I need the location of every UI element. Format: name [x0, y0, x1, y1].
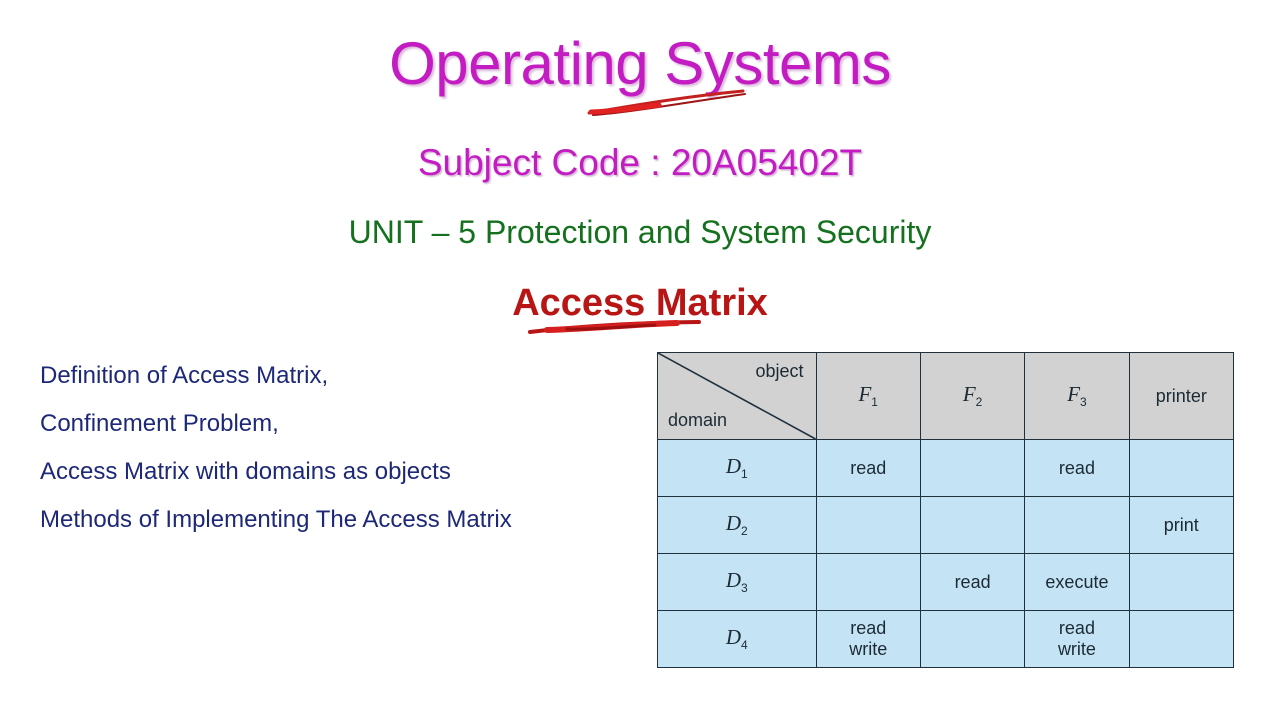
matrix-cell-d2-f2: [920, 497, 1024, 554]
page-title: Operating Systems: [0, 32, 1280, 95]
row-header-d3: D3: [658, 554, 817, 611]
table-row: D4 read write read write: [658, 611, 1234, 668]
table-row: D2 print: [658, 497, 1234, 554]
row-header-d1: D1: [658, 440, 817, 497]
matrix-cell-d2-f3: [1025, 497, 1129, 554]
matrix-cell-d3-f3: execute: [1025, 554, 1129, 611]
list-item: Access Matrix with domains as objects: [40, 448, 640, 496]
table-row: D3 read execute: [658, 554, 1234, 611]
matrix-cell-d1-f2: [920, 440, 1024, 497]
unit-heading: UNIT – 5 Protection and System Security: [0, 214, 1280, 251]
matrix-cell-d3-f2: read: [920, 554, 1024, 611]
matrix-cell-d3-f1: [816, 554, 920, 611]
table-header-row: object domain F1 F2 F3 printer: [658, 353, 1234, 440]
column-header-f3: F3: [1025, 353, 1129, 440]
matrix-cell-d3-printer: [1129, 554, 1233, 611]
matrix-cell-d4-f1: read write: [816, 611, 920, 668]
matrix-cell-d4-f3: read write: [1025, 611, 1129, 668]
matrix-corner-cell: object domain: [658, 353, 817, 440]
matrix-cell-d4-f2: [920, 611, 1024, 668]
access-matrix-table: object domain F1 F2 F3 printer: [657, 352, 1234, 668]
matrix-cell-d2-printer: print: [1129, 497, 1233, 554]
list-item: Confinement Problem,: [40, 400, 640, 448]
table-row: D1 read read: [658, 440, 1234, 497]
row-header-d2: D2: [658, 497, 817, 554]
column-header-f2: F2: [920, 353, 1024, 440]
topic-outline-list: Definition of Access Matrix, Confinement…: [40, 352, 640, 544]
matrix-cell-d1-f3: read: [1025, 440, 1129, 497]
access-matrix-figure: object domain F1 F2 F3 printer: [657, 352, 1234, 662]
column-header-f1: F1: [816, 353, 920, 440]
topic-heading: Access Matrix: [0, 282, 1280, 325]
row-header-d4: D4: [658, 611, 817, 668]
list-item: Definition of Access Matrix,: [40, 352, 640, 400]
matrix-cell-d1-printer: [1129, 440, 1233, 497]
matrix-cell-d4-printer: [1129, 611, 1233, 668]
object-axis-label: object: [756, 361, 804, 382]
slide-canvas: Operating Systems Subject Code : 20A0540…: [0, 0, 1280, 720]
domain-axis-label: domain: [668, 410, 727, 431]
column-header-printer: printer: [1129, 353, 1233, 440]
list-item: Methods of Implementing The Access Matri…: [40, 496, 640, 544]
matrix-cell-d2-f1: [816, 497, 920, 554]
subject-code: Subject Code : 20A05402T: [0, 142, 1280, 184]
matrix-cell-d1-f1: read: [816, 440, 920, 497]
